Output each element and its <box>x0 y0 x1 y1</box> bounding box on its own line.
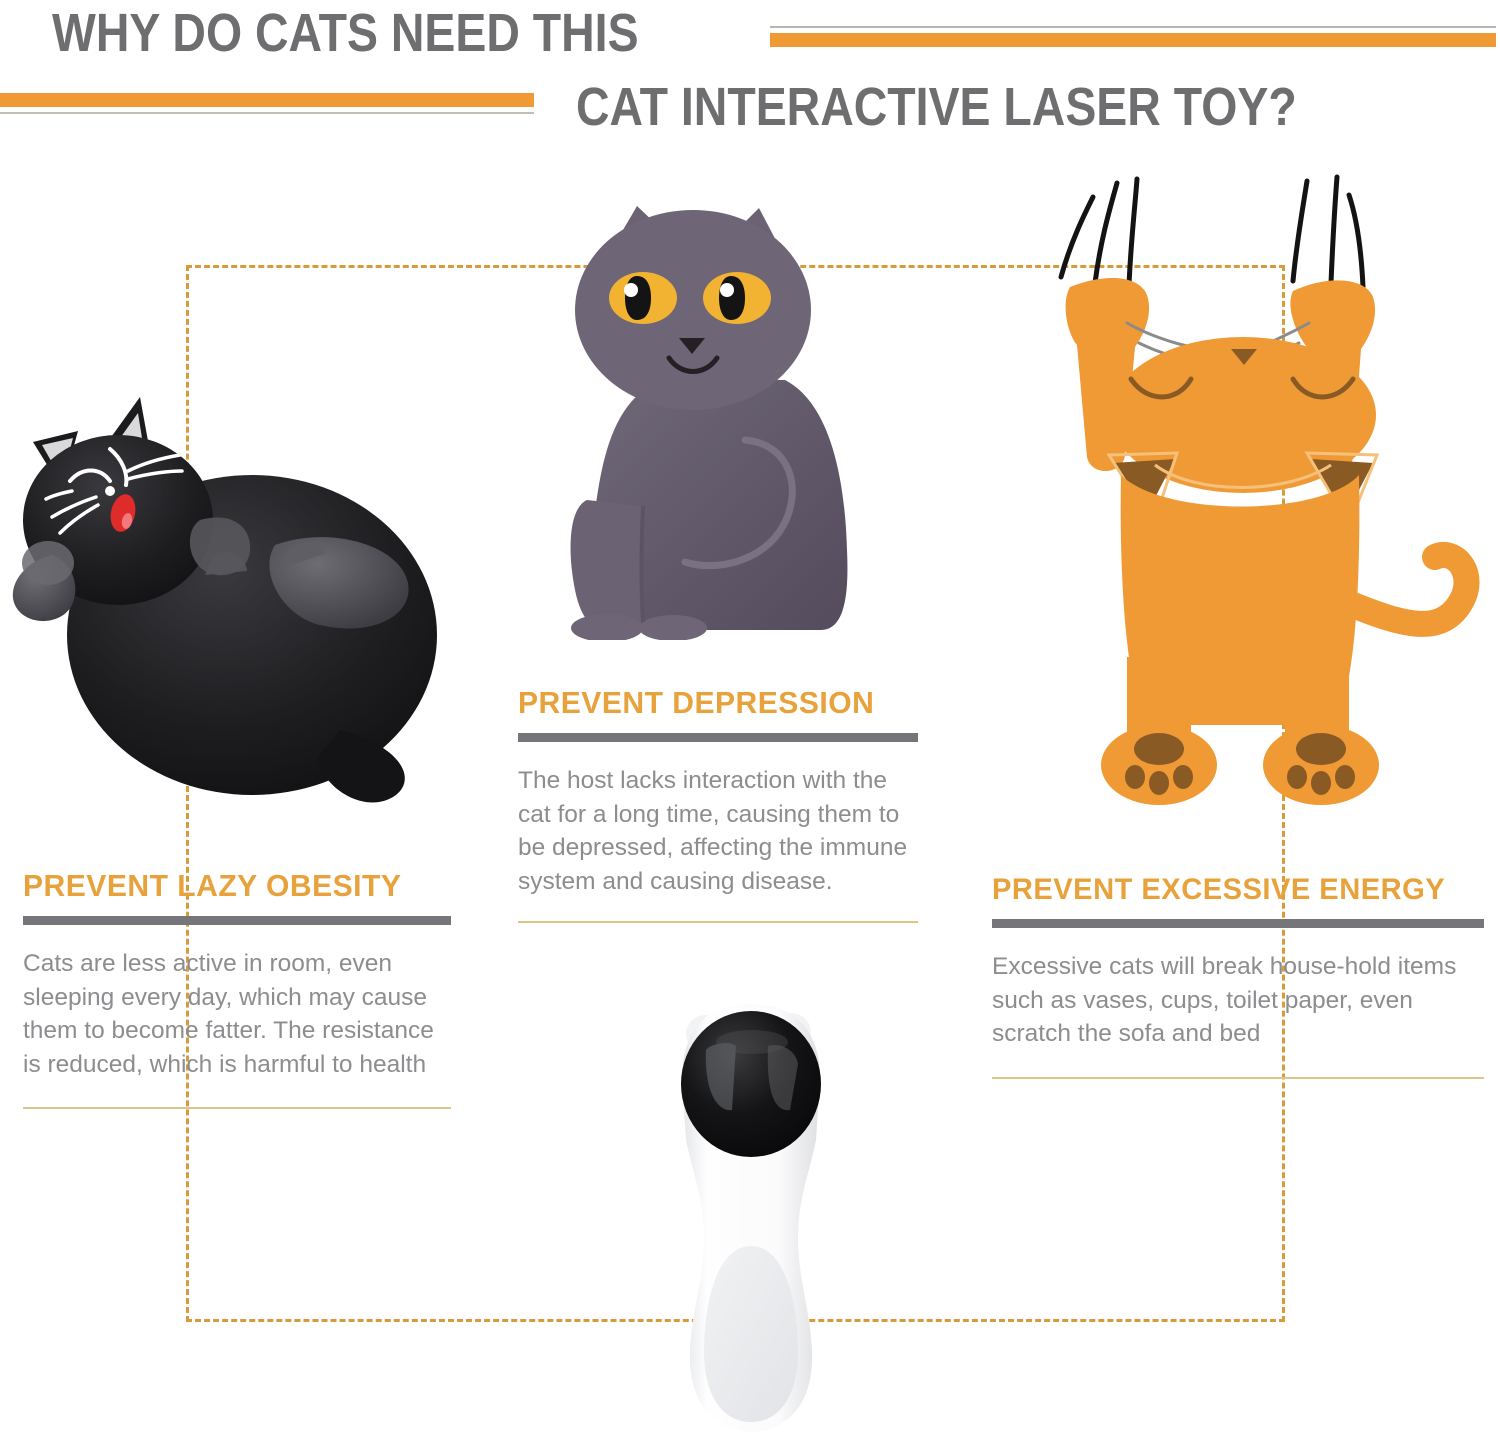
card-prevent-depression: PREVENT DEPRESSION The host lacks intera… <box>518 685 918 923</box>
header-rule-1-orange <box>770 33 1496 47</box>
header-rule-1-thin <box>770 26 1496 28</box>
infographic-page: WHY DO CATS NEED THIS CAT INTERACTIVE LA… <box>0 0 1500 1436</box>
stretching-orange-cat-illustration <box>1035 165 1490 810</box>
card-bottom-rule <box>23 1107 451 1109</box>
header-rule-2-thin <box>0 112 534 114</box>
header-rule-2-orange <box>0 93 534 107</box>
card-bottom-rule <box>518 921 918 923</box>
card-prevent-lazy-obesity: PREVENT LAZY OBESITY Cats are less activ… <box>23 868 451 1109</box>
heading-prevent-lazy-obesity: PREVENT LAZY OBESITY <box>23 868 438 904</box>
heading-underline-bar <box>23 916 451 925</box>
body-prevent-excessive-energy: Excessive cats will break house-hold ite… <box>992 950 1484 1051</box>
heading-underline-bar <box>992 919 1484 928</box>
body-prevent-lazy-obesity: Cats are less active in room, even sleep… <box>23 947 451 1081</box>
card-prevent-excessive-energy: PREVENT EXCESSIVE ENERGY Excessive cats … <box>992 873 1484 1079</box>
heading-prevent-depression: PREVENT DEPRESSION <box>518 685 906 721</box>
cat-laser-toy-illustration <box>648 1000 863 1436</box>
sad-grey-cat-illustration <box>545 190 895 640</box>
card-bottom-rule <box>992 1077 1484 1079</box>
page-title-line-1: WHY DO CATS NEED THIS <box>52 2 639 64</box>
body-prevent-depression: The host lacks interaction with the cat … <box>518 764 918 898</box>
heading-prevent-excessive-energy: PREVENT EXCESSIVE ENERGY <box>992 873 1469 907</box>
heading-underline-bar <box>518 733 918 742</box>
page-title-line-2: CAT INTERACTIVE LASER TOY? <box>576 76 1297 138</box>
fat-black-cat-illustration <box>0 385 470 825</box>
